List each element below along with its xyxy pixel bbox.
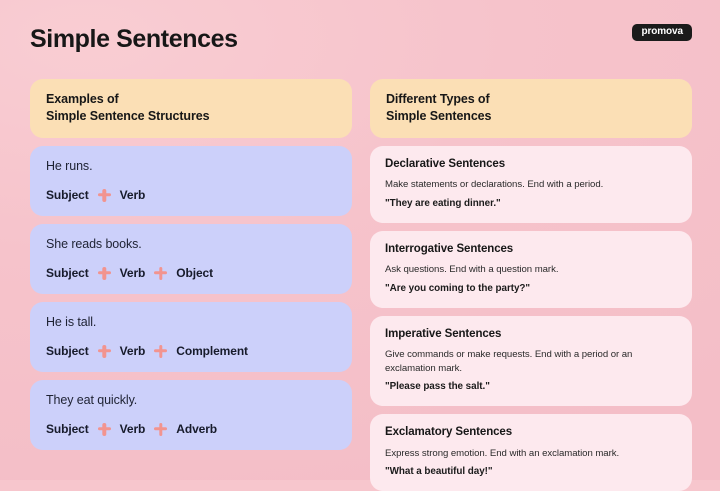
type-card-example: "Please pass the salt." [385, 381, 677, 394]
formula-part: Complement [176, 344, 248, 358]
left-column-heading: Examples of Simple Sentence Structures [30, 79, 352, 138]
structure-card[interactable]: They eat quickly. Subject Verb Adverb [30, 380, 352, 450]
right-heading-line-2: Simple Sentences [386, 108, 676, 125]
structure-card[interactable]: He runs. Subject Verb [30, 146, 352, 216]
type-card-title: Exclamatory Sentences [385, 425, 677, 439]
column-sentence-structures: Examples of Simple Sentence Structures H… [30, 79, 352, 491]
formula-part: Verb [120, 188, 146, 202]
right-heading-line-1: Different Types of [386, 91, 676, 108]
left-heading-line-2: Simple Sentence Structures [46, 108, 336, 125]
structure-example-sentence: He is tall. [46, 315, 336, 330]
right-column-heading: Different Types of Simple Sentences [370, 79, 692, 138]
type-card[interactable]: Declarative Sentences Make statements or… [370, 146, 692, 223]
structure-example-sentence: He runs. [46, 159, 336, 174]
type-card-description: Ask questions. End with a question mark. [385, 263, 677, 277]
type-card-title: Imperative Sentences [385, 327, 677, 341]
structure-example-sentence: She reads books. [46, 237, 336, 252]
structure-formula: Subject Verb Adverb [46, 422, 336, 436]
left-heading-line-1: Examples of [46, 91, 336, 108]
structure-card[interactable]: She reads books. Subject Verb Object [30, 224, 352, 294]
type-card-example: "They are eating dinner." [385, 198, 677, 211]
type-card-description: Express strong emotion. End with an excl… [385, 447, 677, 461]
type-card-title: Interrogative Sentences [385, 242, 677, 256]
plus-icon [154, 423, 167, 436]
poster-header: Simple Sentences promova [30, 22, 692, 66]
structure-formula: Subject Verb Object [46, 266, 336, 280]
structure-example-sentence: They eat quickly. [46, 393, 336, 408]
content-columns: Examples of Simple Sentence Structures H… [30, 79, 692, 491]
formula-part: Adverb [176, 422, 217, 436]
formula-part: Subject [46, 266, 89, 280]
infographic-poster: Simple Sentences promova Examples of Sim… [0, 0, 720, 480]
type-card-title: Declarative Sentences [385, 157, 677, 171]
structure-formula: Subject Verb Complement [46, 344, 336, 358]
formula-part: Verb [120, 344, 146, 358]
plus-icon [98, 189, 111, 202]
plus-icon [154, 345, 167, 358]
type-card[interactable]: Imperative Sentences Give commands or ma… [370, 316, 692, 406]
type-card[interactable]: Interrogative Sentences Ask questions. E… [370, 231, 692, 308]
plus-icon [98, 267, 111, 280]
formula-part: Verb [120, 422, 146, 436]
type-card-description: Make statements or declarations. End wit… [385, 178, 677, 192]
type-card-description: Give commands or make requests. End with… [385, 348, 677, 375]
type-card[interactable]: Exclamatory Sentences Express strong emo… [370, 414, 692, 491]
structure-formula: Subject Verb [46, 188, 336, 202]
plus-icon [98, 423, 111, 436]
type-card-example: "Are you coming to the party?" [385, 283, 677, 296]
column-sentence-types: Different Types of Simple Sentences Decl… [370, 79, 692, 491]
page-title: Simple Sentences [30, 22, 238, 54]
formula-part: Subject [46, 422, 89, 436]
formula-part: Object [176, 266, 213, 280]
structure-card[interactable]: He is tall. Subject Verb Complement [30, 302, 352, 372]
formula-part: Subject [46, 188, 89, 202]
plus-icon [154, 267, 167, 280]
type-card-example: "What a beautiful day!" [385, 466, 677, 479]
formula-part: Subject [46, 344, 89, 358]
promova-logo: promova [632, 24, 692, 41]
formula-part: Verb [120, 266, 146, 280]
plus-icon [98, 345, 111, 358]
